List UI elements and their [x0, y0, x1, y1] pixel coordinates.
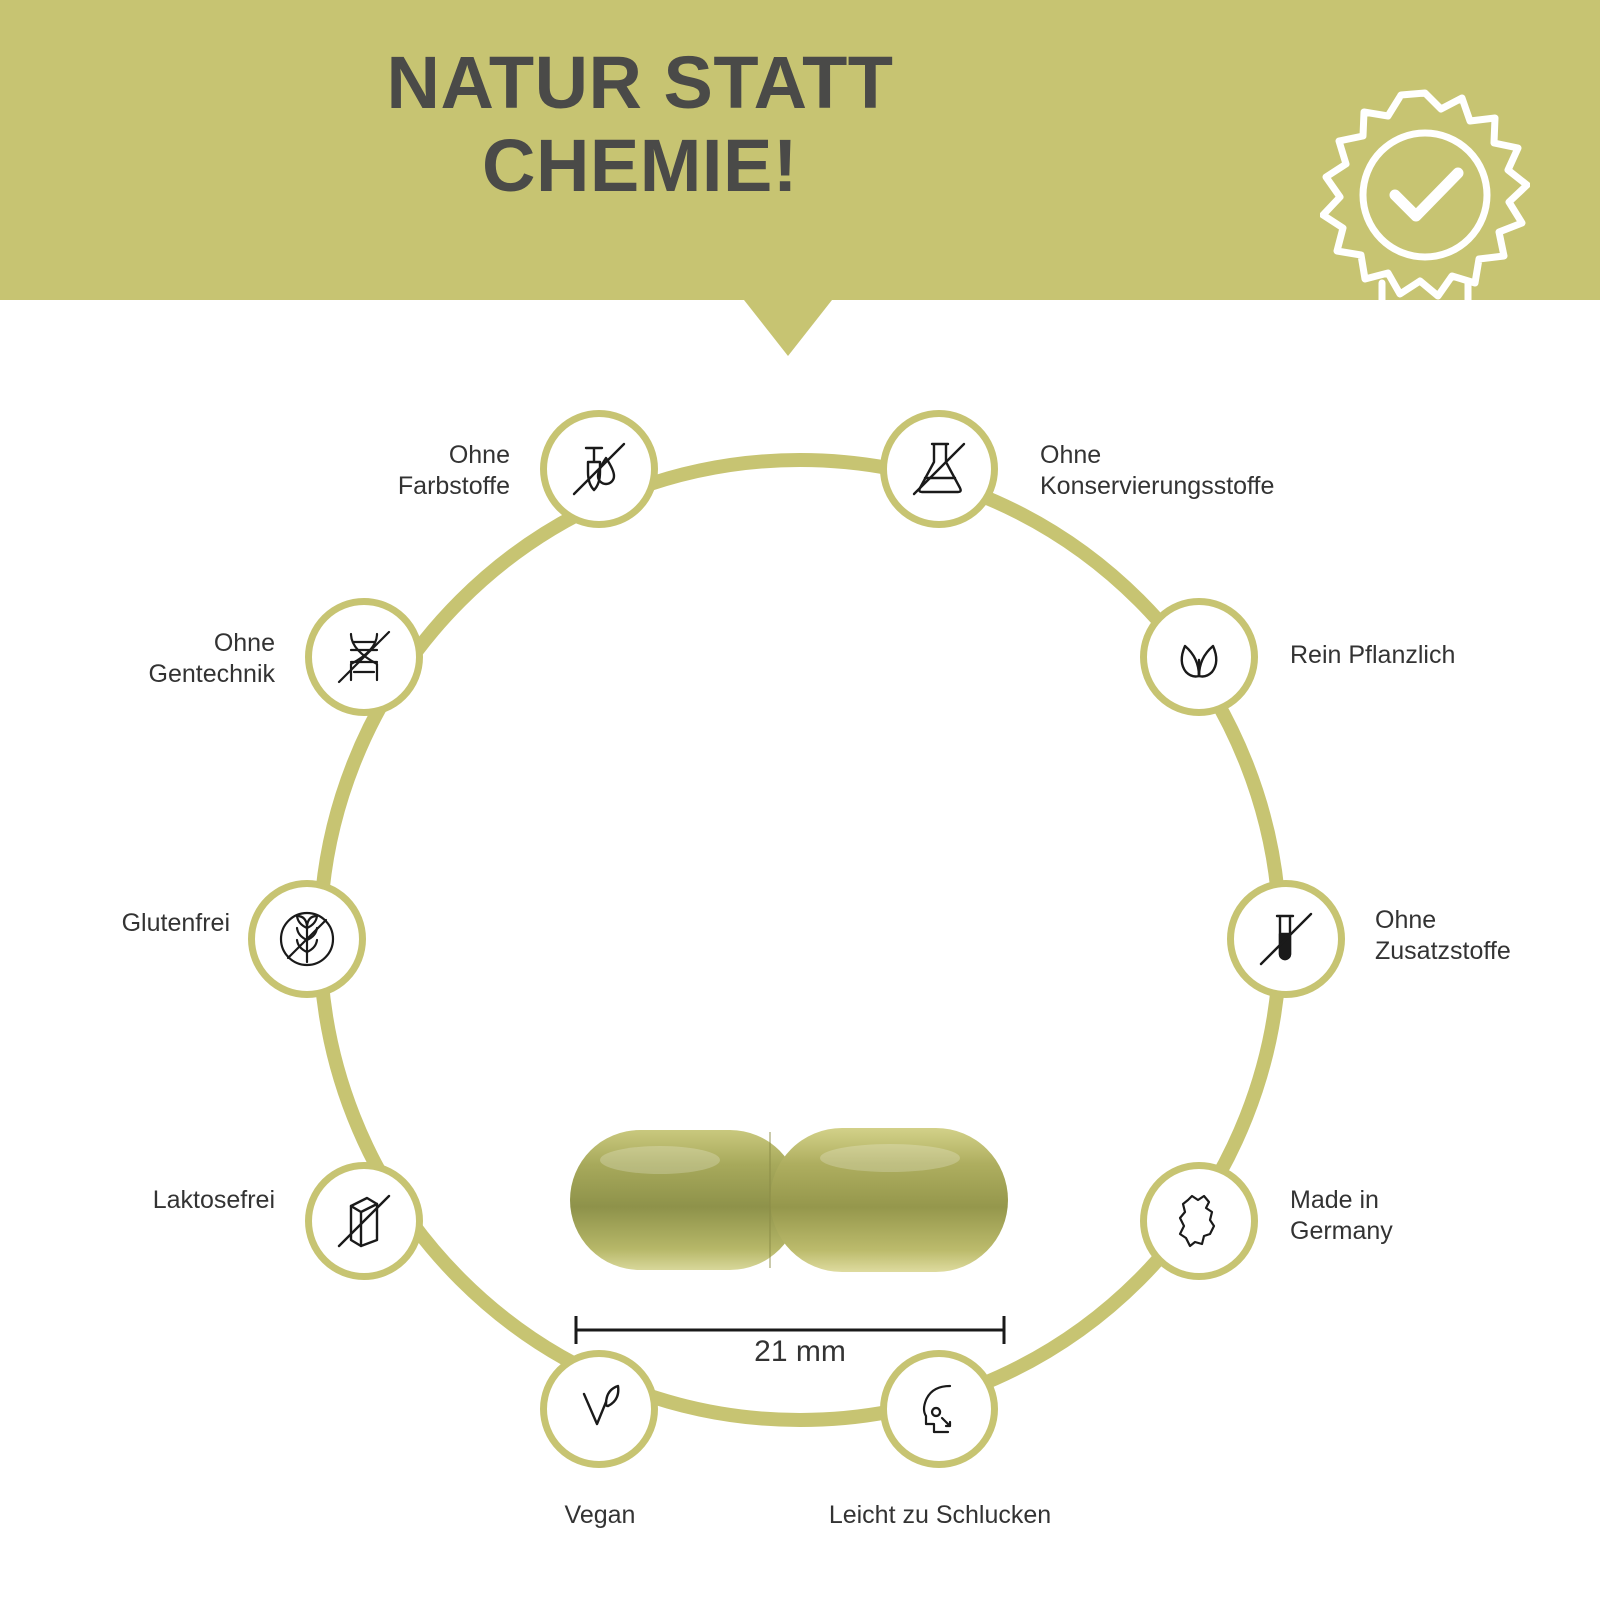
benefit-label-ohne-farbstoffe: Ohne Farbstoffe [280, 440, 510, 503]
benefit-label-made-in-germany: Made in Germany [1290, 1185, 1550, 1248]
benefit-icon-laktosefrei[interactable] [305, 1162, 423, 1280]
page-title-line2: CHEMIE! [0, 125, 1280, 208]
capsule-image [570, 1120, 1010, 1420]
benefit-icon-made-in-germany[interactable] [1140, 1162, 1258, 1280]
benefit-icon-ohne-konservierungsstoffe[interactable] [880, 410, 998, 528]
capsule-size-label: 21 mm [0, 1335, 1600, 1369]
benefit-icon-rein-pflanzlich[interactable] [1140, 598, 1258, 716]
benefit-label-leicht-zu-schlucken: Leicht zu Schlucken [780, 1500, 1100, 1531]
benefit-label-ohne-gentechnik: Ohne Gentechnik [80, 628, 275, 691]
benefit-icon-ohne-gentechnik[interactable] [305, 598, 423, 716]
benefit-label-laktosefrei: Laktosefrei [60, 1185, 275, 1216]
benefit-icon-glutenfrei[interactable] [248, 880, 366, 998]
benefit-label-ohne-konservierungsstoffe: Ohne Konservierungsstoffe [1040, 440, 1370, 503]
page-title: NATUR STATT CHEMIE! [0, 42, 1280, 208]
benefit-label-vegan: Vegan [490, 1500, 710, 1531]
benefit-label-glutenfrei: Glutenfrei [40, 908, 230, 939]
benefit-label-rein-pflanzlich: Rein Pflanzlich [1290, 640, 1590, 671]
benefit-label-ohne-zusatzstoffe: Ohne Zusatzstoffe [1375, 905, 1600, 968]
page-title-line1: NATUR STATT [0, 42, 1280, 125]
benefits-wheel: Ohne Farbstoffe Ohne Konservierungsstoff… [0, 300, 1600, 1600]
benefit-icon-ohne-zusatzstoffe[interactable] [1227, 880, 1345, 998]
benefit-icon-ohne-farbstoffe[interactable] [540, 410, 658, 528]
